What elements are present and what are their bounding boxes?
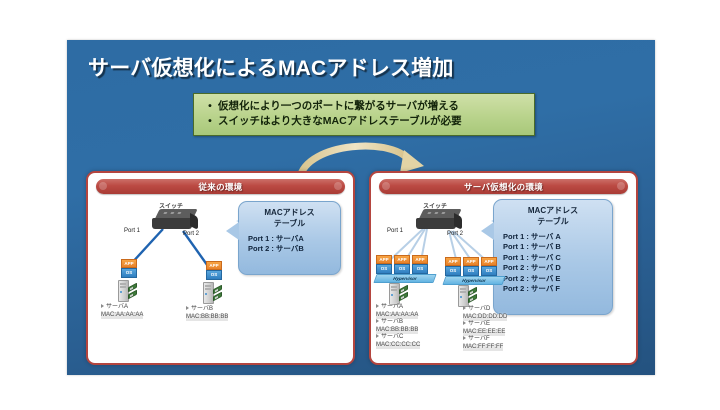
caption-bullet-icon: [463, 336, 466, 340]
panel-conventional: 従来の環境 スイッチ Port 1 Port 2: [86, 171, 355, 365]
mac-table-title-line1: MACアドレス: [494, 205, 612, 216]
caption-bullet-icon: [101, 304, 104, 308]
vm-stack-h1-2: APP OS: [394, 255, 410, 274]
mac-table-callout-right: MACアドレス テーブル Port 1 : サーバ A Port 1 : サーバ…: [493, 199, 613, 315]
vm-stack-h2-2: APP OS: [463, 257, 479, 276]
server-caption-a: サーバA MAC:AA:AA:AA: [101, 304, 143, 319]
server-name: サーバE: [468, 321, 490, 327]
vm-os-label: OS: [394, 264, 410, 274]
vm-app-label: APP: [121, 259, 137, 268]
vm-os-label: OS: [206, 270, 222, 280]
port-label-right-2: Port 2: [447, 231, 463, 237]
vm-app-label: APP: [376, 255, 392, 264]
server-mac: MAC:DD:DD:DD: [463, 314, 507, 322]
server-icon-a: [118, 280, 133, 302]
vm-stack-h1-3: APP OS: [412, 255, 428, 274]
bullet-list: • 仮想化により一つのポートに繋がるサーバが増える • スイッチはより大きなMA…: [193, 93, 535, 136]
mac-table-title-line2: テーブル: [494, 216, 612, 227]
server-caption-h1-a: サーバA MAC:AA:AA:AA: [376, 304, 418, 319]
caption-bullet-icon: [186, 306, 189, 310]
vm-stack-left-a: APP OS: [121, 259, 137, 278]
mac-table-title-line2: テーブル: [239, 218, 340, 229]
vm-os-label: OS: [376, 264, 392, 274]
presentation-slide: サーバ仮想化によるMACアドレス増加 • 仮想化により一つのポートに繋がるサーバ…: [67, 40, 655, 375]
vm-os-label: OS: [481, 266, 497, 276]
panel-virtualized: サーバ仮想化の環境 スイッチ: [369, 171, 638, 365]
page-title: サーバ仮想化によるMACアドレス増加: [88, 52, 454, 82]
panel-ribbon-conventional: 従来の環境: [96, 179, 345, 194]
server-caption-h1-c: サーバC MAC:CC:CC:CC: [376, 334, 420, 349]
server-mac: MAC:CC:CC:CC: [376, 342, 420, 350]
vm-stack-h1-1: APP OS: [376, 255, 392, 274]
server-caption-h2-d: サーバD MAC:DD:DD:DD: [463, 306, 507, 321]
vm-os-label: OS: [412, 264, 428, 274]
server-mac: MAC:BB:BB:BB: [186, 314, 228, 322]
server-name: サーバD: [468, 306, 490, 312]
vm-app-label: APP: [463, 257, 479, 266]
server-icon-b: [203, 282, 218, 304]
slide-canvas: サーバ仮想化によるMACアドレス増加 • 仮想化により一つのポートに繋がるサーバ…: [0, 0, 720, 410]
vm-app-label: APP: [412, 255, 428, 264]
vm-os-label: OS: [463, 266, 479, 276]
server-caption-b: サーバB MAC:BB:BB:BB: [186, 306, 228, 321]
mac-table-entry: Port 2 : サーバ D: [503, 263, 612, 273]
server-name: サーバB: [191, 306, 213, 312]
panel-title-conventional: 従来の環境: [198, 181, 242, 193]
vm-stack-h2-1: APP OS: [445, 257, 461, 276]
port-label-left-1: Port 1: [124, 228, 140, 234]
server-mac: MAC:EE:EE:EE: [463, 329, 505, 337]
ribbon-notch-left-icon: [99, 182, 107, 190]
server-name: サーバF: [468, 336, 490, 342]
caption-bullet-icon: [376, 319, 379, 323]
mac-table-entry: Port 1 : サーバ A: [503, 232, 612, 242]
server-mac: MAC:AA:AA:AA: [101, 312, 143, 320]
bullet-text: スイッチはより大きなMACアドレステーブルが必要: [218, 114, 462, 129]
vm-app-label: APP: [445, 257, 461, 266]
vm-stack-left-b: APP OS: [206, 261, 222, 280]
ribbon-notch-right-icon: [617, 182, 625, 190]
caption-bullet-icon: [376, 334, 379, 338]
port-label-right-1: Port 1: [387, 228, 403, 234]
server-caption-h1-b: サーバB MAC:BB:BB:BB: [376, 319, 418, 334]
server-mac: MAC:AA:AA:AA: [376, 312, 418, 320]
ribbon-notch-left-icon: [382, 182, 390, 190]
server-mac: MAC:FF:FF:FF: [463, 344, 503, 352]
bullet-text: 仮想化により一つのポートに繋がるサーバが増える: [218, 99, 459, 114]
server-name: サーバA: [381, 304, 403, 310]
port-label-left-2: Port 2: [183, 231, 199, 237]
server-name: サーバC: [381, 334, 403, 340]
vm-stack-h2-3: APP OS: [481, 257, 497, 276]
ribbon-notch-right-icon: [334, 182, 342, 190]
vm-os-label: OS: [445, 266, 461, 276]
vm-app-label: APP: [394, 255, 410, 264]
mac-table-entry: Port 2 : サーバ F: [503, 284, 612, 294]
server-name: サーバA: [106, 304, 128, 310]
vm-os-label: OS: [121, 268, 137, 278]
bullet-marker: •: [202, 99, 218, 114]
hypervisor-bar-h1: Hypervisor: [373, 274, 436, 283]
mac-table-entry: Port 1 : サーバA: [248, 234, 340, 244]
server-caption-h2-f: サーバF MAC:FF:FF:FF: [463, 336, 503, 351]
caption-bullet-icon: [463, 306, 466, 310]
switch-icon-right: [416, 209, 462, 231]
mac-table-entry: Port 2 : サーバ E: [503, 274, 612, 284]
vm-app-label: APP: [481, 257, 497, 266]
hypervisor-bar-h2: Hypervisor: [442, 276, 505, 285]
mac-table-title-line1: MACアドレス: [239, 207, 340, 218]
server-caption-h2-e: サーバE MAC:EE:EE:EE: [463, 321, 505, 336]
caption-bullet-icon: [376, 304, 379, 308]
mac-table-entry: Port 1 : サーバ B: [503, 242, 612, 252]
mac-table-callout-left: MACアドレス テーブル Port 1 : サーバA Port 2 : サーバB: [238, 201, 341, 275]
switch-icon-left: [152, 209, 198, 231]
panel-title-virtualized: サーバ仮想化の環境: [464, 181, 543, 193]
bullet-item: • スイッチはより大きなMACアドレステーブルが必要: [202, 114, 526, 129]
bullet-marker: •: [202, 114, 218, 129]
bullet-item: • 仮想化により一つのポートに繋がるサーバが増える: [202, 99, 526, 114]
vm-app-label: APP: [206, 261, 222, 270]
caption-bullet-icon: [463, 321, 466, 325]
mac-table-entry: Port 2 : サーバB: [248, 244, 340, 254]
panel-ribbon-virtualized: サーバ仮想化の環境: [379, 179, 628, 194]
server-name: サーバB: [381, 319, 403, 325]
server-mac: MAC:BB:BB:BB: [376, 327, 418, 335]
mac-table-entry: Port 1 : サーバ C: [503, 253, 612, 263]
